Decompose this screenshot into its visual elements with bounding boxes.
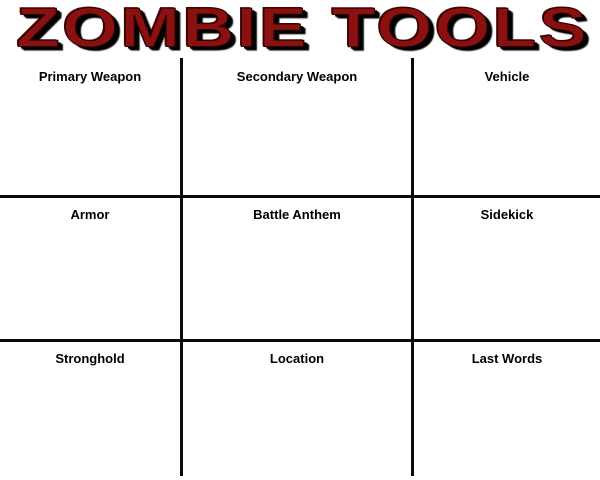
grid-cell-battle-anthem[interactable]: Battle Anthem [183, 198, 411, 339]
cell-label-last-words: Last Words [472, 351, 543, 366]
title-banner: ZOMBIE TOOLS [0, 0, 600, 56]
cell-label-location: Location [270, 351, 324, 366]
grid-cell-location[interactable]: Location [183, 342, 411, 480]
page-title: ZOMBIE TOOLS [11, 2, 589, 54]
grid-cell-last-words[interactable]: Last Words [414, 342, 600, 480]
cell-label-sidekick: Sidekick [481, 207, 534, 222]
grid-cell-sidekick[interactable]: Sidekick [414, 198, 600, 339]
cell-label-battle-anthem: Battle Anthem [253, 207, 341, 222]
cell-label-vehicle: Vehicle [485, 69, 530, 84]
grid-cell-armor[interactable]: Armor [0, 198, 180, 339]
grid-cell-secondary-weapon[interactable]: Secondary Weapon [183, 60, 411, 195]
zombie-tools-meme-template: ZOMBIE TOOLS Primary Weapon Secondary We… [0, 0, 600, 480]
grid-cell-stronghold[interactable]: Stronghold [0, 342, 180, 480]
cell-label-stronghold: Stronghold [55, 351, 124, 366]
cell-label-armor: Armor [70, 207, 109, 222]
cell-label-primary-weapon: Primary Weapon [39, 69, 141, 84]
grid-cell-primary-weapon[interactable]: Primary Weapon [0, 60, 180, 195]
cell-label-secondary-weapon: Secondary Weapon [237, 69, 357, 84]
grid-cell-vehicle[interactable]: Vehicle [414, 60, 600, 195]
